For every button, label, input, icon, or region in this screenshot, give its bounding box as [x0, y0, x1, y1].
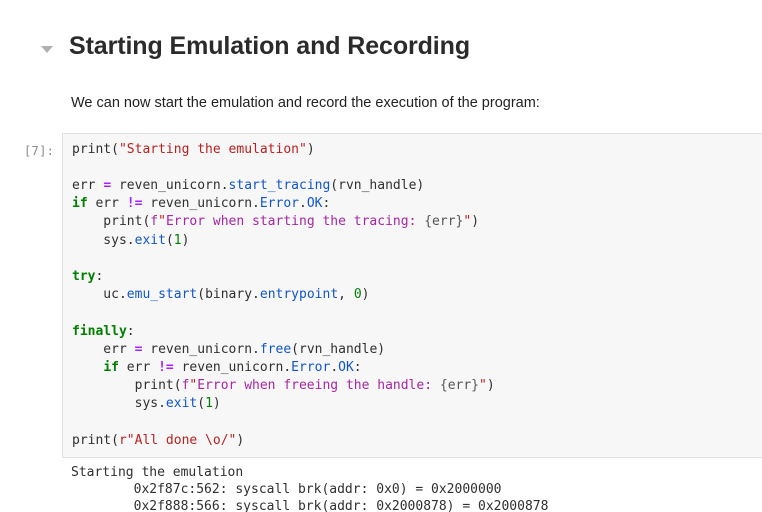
triangle-down-icon[interactable]: [41, 46, 53, 53]
code-token: (: [197, 396, 205, 411]
code-token: 0: [354, 287, 362, 302]
markdown-cell[interactable]: Starting Emulation and Recording We can …: [0, 0, 762, 115]
code-token: ): [213, 396, 221, 411]
code-token: start_tracing: [229, 178, 331, 193]
code-token: reven_unicorn.: [142, 196, 259, 211]
code-token: ": [479, 378, 487, 393]
output-stdout-area: Starting the emulation 0x2f87c:562: sysc…: [62, 458, 762, 512]
code-token: .: [299, 196, 307, 211]
code-token: err: [119, 360, 158, 375]
output-cell: Starting the emulation 0x2f87c:562: sysc…: [0, 458, 762, 512]
code-token: !=: [158, 360, 174, 375]
code-token: 1: [174, 233, 182, 248]
code-token: print(: [72, 433, 119, 448]
code-source[interactable]: print("Starting the emulation") err = re…: [72, 141, 762, 450]
code-token: OK: [307, 196, 323, 211]
code-token: ": [158, 214, 166, 229]
code-token: free: [260, 342, 291, 357]
code-token: err: [72, 178, 103, 193]
code-token: ,: [338, 287, 354, 302]
code-token: 1: [205, 396, 213, 411]
code-token: :: [127, 324, 135, 339]
code-token: ): [362, 287, 370, 302]
execution-count-prompt: [7]:: [0, 133, 62, 158]
code-token: reven_unicorn.: [142, 342, 259, 357]
code-token: if: [72, 196, 88, 211]
code-token: reven_unicorn.: [174, 360, 291, 375]
code-input-area[interactable]: print("Starting the emulation") err = re…: [62, 133, 762, 458]
code-token: Error: [291, 360, 330, 375]
code-token: =: [103, 178, 111, 193]
intro-paragraph: We can now start the emulation and recor…: [71, 93, 762, 115]
heading-row: Starting Emulation and Recording: [0, 0, 762, 79]
code-token: emu_start: [127, 287, 197, 302]
code-token: reven_unicorn.: [111, 178, 228, 193]
code-token: r"All done \o/": [119, 433, 236, 448]
code-token: Error: [260, 196, 299, 211]
code-token: print(: [72, 214, 150, 229]
code-token: err: [88, 196, 127, 211]
code-token: "Starting the emulation": [119, 142, 307, 157]
code-token: ): [236, 433, 244, 448]
code-token: ": [463, 214, 471, 229]
code-token: :: [95, 269, 103, 284]
code-token: [72, 360, 103, 375]
code-token: Error when freeing the handle:: [197, 378, 440, 393]
code-token: ): [182, 233, 190, 248]
code-token: (: [166, 233, 174, 248]
code-token: (binary.: [197, 287, 260, 302]
code-token: try: [72, 269, 95, 284]
code-token: err: [72, 342, 135, 357]
code-token: Error when starting the tracing:: [166, 214, 424, 229]
code-token: {err}: [424, 214, 463, 229]
stdout-text: Starting the emulation 0x2f87c:562: sysc…: [71, 464, 762, 512]
code-token: exit: [135, 233, 166, 248]
code-token: :: [354, 360, 362, 375]
code-token: uc.: [72, 287, 127, 302]
code-token: finally: [72, 324, 127, 339]
code-token: exit: [166, 396, 197, 411]
code-token: print(: [72, 378, 182, 393]
code-token: (rvn_handle): [291, 342, 385, 357]
code-token: entrypoint: [260, 287, 338, 302]
code-token: ): [471, 214, 479, 229]
code-token: sys.: [72, 396, 166, 411]
code-token: .: [330, 360, 338, 375]
code-token: {err}: [440, 378, 479, 393]
code-token: (rvn_handle): [330, 178, 424, 193]
page-title: Starting Emulation and Recording: [69, 31, 470, 62]
code-token: if: [103, 360, 119, 375]
code-cell[interactable]: [7]: print("Starting the emulation") err…: [0, 133, 762, 458]
code-token: ): [307, 142, 315, 157]
code-token: :: [322, 196, 330, 211]
code-token: sys.: [72, 233, 135, 248]
code-token: print(: [72, 142, 119, 157]
code-token: ): [487, 378, 495, 393]
code-token: !=: [127, 196, 143, 211]
notebook-container: Starting Emulation and Recording We can …: [0, 0, 762, 512]
code-token: OK: [338, 360, 354, 375]
code-token: f: [150, 214, 158, 229]
